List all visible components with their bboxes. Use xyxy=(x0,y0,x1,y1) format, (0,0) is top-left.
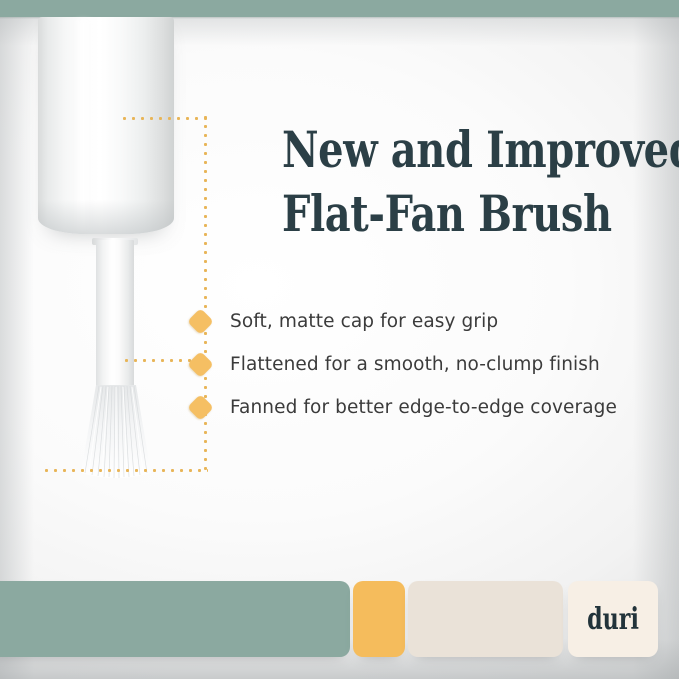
product-infographic: New and Improved Flat-Fan Brush Soft, ma… xyxy=(0,0,679,679)
headline-line-1: New and Improved xyxy=(282,118,586,182)
footer-block-amber xyxy=(353,581,405,657)
diamond-bullet-icon xyxy=(187,394,214,421)
leader-line-cap xyxy=(120,117,208,120)
list-item: Fanned for better edge-to-edge coverage xyxy=(190,386,660,429)
feature-label: Soft, matte cap for easy grip xyxy=(230,311,498,332)
nail-polish-cap xyxy=(38,17,174,234)
brush-ferrule xyxy=(96,240,134,388)
page-title: New and Improved Flat-Fan Brush xyxy=(282,118,586,246)
feature-list: Soft, matte cap for easy grip Flattened … xyxy=(190,300,660,429)
footer-color-bar: duri xyxy=(0,581,679,657)
footer-block-logo: duri xyxy=(568,581,658,657)
feature-label: Fanned for better edge-to-edge coverage xyxy=(230,397,617,418)
list-item: Soft, matte cap for easy grip xyxy=(190,300,660,343)
brand-logo: duri xyxy=(587,602,639,637)
footer-block-beige xyxy=(408,581,563,657)
leader-line-bristles xyxy=(42,469,208,472)
top-accent-bar xyxy=(0,0,679,17)
headline-line-2: Flat-Fan Brush xyxy=(282,182,586,246)
diamond-bullet-icon xyxy=(187,351,214,378)
diamond-bullet-icon xyxy=(187,308,214,335)
cap-bottom-shadow xyxy=(38,200,174,234)
list-item: Flattened for a smooth, no-clump finish xyxy=(190,343,660,386)
footer-block-sage xyxy=(0,581,350,657)
feature-label: Flattened for a smooth, no-clump finish xyxy=(230,354,600,375)
